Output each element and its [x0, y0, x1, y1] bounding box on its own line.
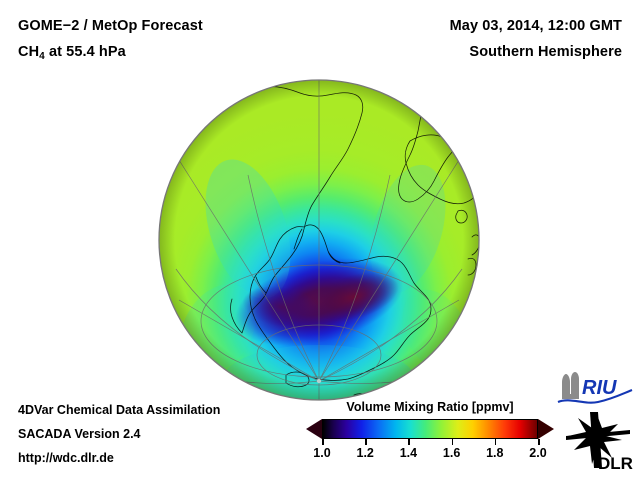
riu-wordmark: RIU — [582, 377, 617, 399]
species-title: CH4 at 55.4 hPa — [18, 44, 126, 62]
colorbar-tick-label: 1.6 — [443, 446, 460, 460]
instrument-title: GOME−2 / MetOp Forecast — [18, 18, 203, 34]
dlr-logo: DLR — [562, 410, 634, 472]
dlr-wordmark: DLR — [598, 454, 633, 472]
colorbar-tick — [408, 439, 410, 445]
colorbar-tick — [365, 439, 367, 445]
species-suffix: at 55.4 hPa — [45, 44, 126, 60]
colorbar-tick-label: 1.2 — [356, 446, 373, 460]
globe-disk — [159, 80, 480, 401]
colorbar-tick — [322, 439, 324, 445]
colorbar-body — [322, 419, 538, 439]
colorbar-tick — [452, 439, 454, 445]
colorbar-tick — [495, 439, 497, 445]
website-link[interactable]: http://wdc.dlr.de — [18, 451, 114, 465]
colorbar: Volume Mixing Ratio [ppmv] 1.01.21.41.61… — [305, 400, 555, 462]
assimilation-label: 4DVar Chemical Data Assimilation — [18, 403, 220, 417]
version-label: SACADA Version 2.4 — [18, 427, 141, 441]
riu-towers-icon — [562, 372, 579, 399]
colorbar-ticks — [322, 439, 538, 446]
colorbar-strip — [305, 419, 555, 439]
hemisphere-label: Southern Hemisphere — [469, 44, 622, 60]
colorbar-tick — [538, 439, 540, 445]
colorbar-tick-label: 2.0 — [529, 446, 546, 460]
riu-logo: RIU — [556, 372, 634, 406]
colorbar-title: Volume Mixing Ratio [ppmv] — [305, 400, 555, 414]
colorbar-over-arrow — [538, 419, 554, 439]
globe-map — [158, 79, 480, 401]
colorbar-tick-label: 1.0 — [313, 446, 330, 460]
species-prefix: CH — [18, 44, 39, 60]
colorbar-tick-labels: 1.01.21.41.61.82.0 — [322, 446, 538, 462]
colorbar-tick-label: 1.8 — [486, 446, 503, 460]
colorbar-under-arrow — [306, 419, 322, 439]
datetime-label: May 03, 2014, 12:00 GMT — [450, 18, 622, 34]
limb-shading — [159, 80, 479, 400]
colorbar-gradient — [323, 420, 537, 438]
colorbar-tick-label: 1.4 — [400, 446, 417, 460]
